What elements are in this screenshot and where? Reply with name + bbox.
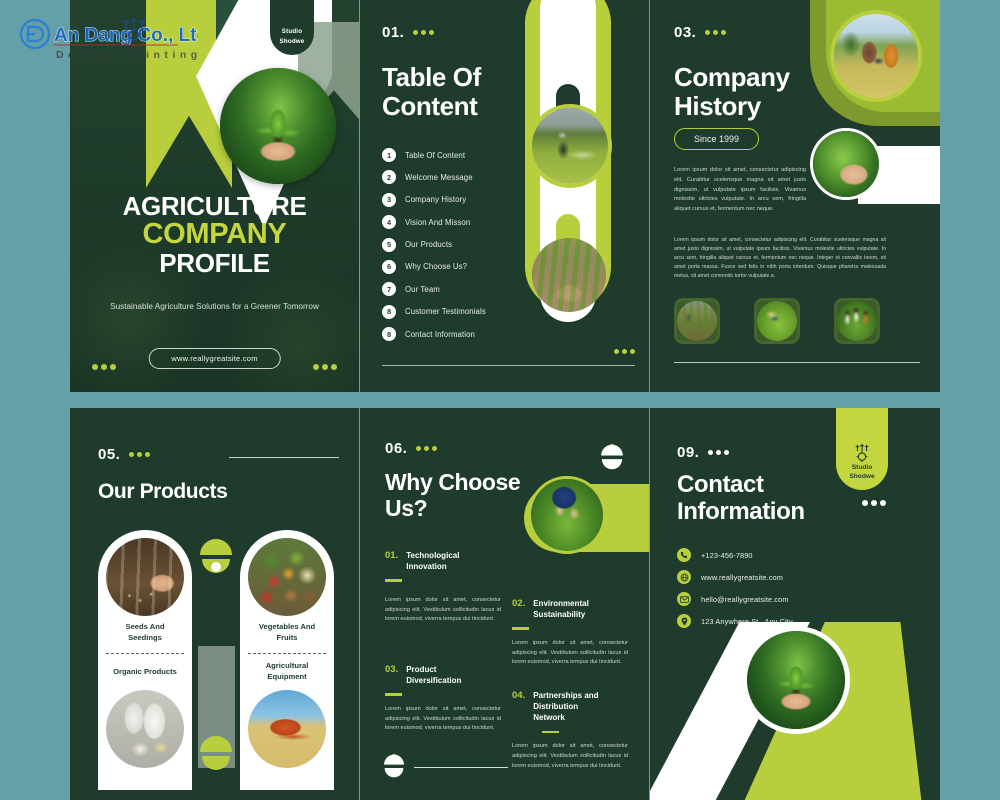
history-thumbnail[interactable] [834, 298, 880, 344]
toc-title-line1: Table Of [382, 63, 532, 92]
product-label-vegetables: Vegetables And Fruits [240, 621, 334, 643]
cover-hero-photo [220, 68, 336, 184]
why-block-1-title-line2: Innovation [406, 562, 446, 571]
toc-item-label: Contact Information [405, 330, 475, 339]
tea-picking-photo [531, 479, 603, 551]
why-block-2-number: 02. [512, 598, 525, 609]
cover-title-block: AGRICULTURE COMPANY PROFILE [70, 193, 359, 277]
contact-phone-text: +123-456-7890 [701, 551, 753, 560]
why-block-2-title-line1: Environmental [533, 599, 589, 608]
why-block-1-rule [385, 579, 402, 581]
toc-item-number: 2 [382, 170, 396, 184]
history-paragraph-1: Lorem ipsum dolor sit amet, consectetur … [674, 166, 806, 215]
leaf-knob-topright-icon [599, 444, 625, 470]
cover-title-line1: AGRICULTURE [70, 193, 359, 219]
globe-icon [677, 570, 691, 584]
products-number: 05. [98, 446, 120, 463]
why-block-3-body: Lorem ipsum dolor sit amet, consectetur … [385, 705, 501, 734]
product-photo-equipment [248, 690, 326, 768]
contact-tab-line2: Shodwe [849, 472, 874, 482]
toc-dots-bottom-icon [614, 349, 635, 354]
toc-item-label: Why Choose Us? [405, 262, 467, 271]
cover-dots-left [92, 364, 116, 370]
history-photo-couple [830, 10, 922, 102]
why-block-4-title-line1: Partnerships and [533, 691, 598, 700]
phone-icon [677, 548, 691, 562]
toc-item-label: Our Products [405, 240, 452, 249]
why-block-3-number: 03. [385, 664, 398, 675]
why-block-3: 03. Product Diversification Lorem ipsum … [385, 664, 501, 734]
why-dots-icon [416, 446, 437, 451]
history-number-row: 03. [674, 24, 790, 41]
why-bottom-rule [414, 767, 508, 768]
cover-title-line2: COMPANY [70, 219, 359, 250]
why-block-2-header: 02. Environmental Sustainability [512, 598, 628, 620]
toc-item-label: Table Of Content [405, 151, 465, 160]
why-block-4-title-line3: Network [533, 713, 565, 722]
cover-title-line3: PROFILE [70, 250, 359, 277]
product-photo-organic [106, 690, 184, 768]
toc-item-label: Company History [405, 195, 466, 204]
contact-tab-line1: Studio [852, 463, 873, 473]
seeds-in-hands-photo [532, 238, 606, 312]
why-number: 06. [385, 440, 407, 457]
page-title: Our Products [98, 480, 227, 504]
product-label-seeds-line2: Seedings [128, 633, 162, 642]
leaf-knob-bottom-icon [198, 736, 234, 772]
why-photo [528, 476, 606, 554]
why-number-row: 06. [385, 440, 437, 457]
toc-title: Table Of Content [382, 63, 532, 121]
products-top-rule [229, 457, 339, 458]
why-block-4-title-line2: Distribution [533, 702, 578, 711]
contact-title-line2: Information [677, 499, 867, 526]
why-block-2-title: Environmental Sustainability [533, 598, 589, 620]
product-label-seeds: Seeds And Seedings [98, 621, 192, 643]
product-label-organic: Organic Products [98, 666, 192, 677]
contact-website-text: www.reallygreatsite.com [701, 573, 783, 582]
hand-holding-sprout-photo [813, 131, 879, 197]
toc-item-number: 8 [382, 305, 396, 319]
why-block-1-title-line1: Technological [406, 551, 459, 560]
toc-item-label: Vision And Misson [405, 218, 470, 227]
products-number-row: 05. [98, 446, 150, 463]
why-block-1: 01. Technological Innovation Lorem ipsum… [385, 550, 501, 625]
cover-studio-badge-line2: Shodwe [280, 38, 305, 45]
why-block-4-rule [542, 731, 559, 733]
cover-dots-right [313, 364, 337, 370]
watermark-logo: An Dang Co., Ltd Design-Printing [18, 14, 198, 64]
history-dots-icon [705, 30, 726, 35]
toc-item-number: 4 [382, 215, 396, 229]
why-block-2-title-line2: Sustainability [533, 610, 585, 619]
page-why-choose-us: 06. Why Choose Us? 01. Technological Inn… [360, 408, 649, 800]
why-block-3-rule [385, 693, 402, 695]
toc-number: 01. [382, 24, 404, 41]
contact-number-row: 09. [677, 444, 729, 461]
leaf-knob-bottomleft-icon [382, 754, 406, 778]
toc-dots-icon [413, 30, 434, 35]
group-in-field-photo [837, 301, 877, 341]
history-title-line2: History [674, 92, 790, 121]
toc-item-number: 6 [382, 260, 396, 274]
farmer-spraying-photo [532, 108, 608, 184]
why-block-1-number: 01. [385, 550, 398, 561]
why-block-4-number: 04. [512, 690, 525, 701]
why-block-3-title: Product Diversification [406, 664, 461, 686]
contact-row-email[interactable]: hello@reallygreatsite.com [677, 592, 793, 606]
contact-hero-photo [742, 626, 850, 734]
why-block-2: 02. Environmental Sustainability Lorem i… [512, 598, 628, 668]
why-block-1-header: 01. Technological Innovation [385, 550, 501, 572]
why-block-4-title: Partnerships and Distribution Network [533, 690, 598, 724]
products-dots-icon [129, 452, 150, 457]
product-label-organic-line1: Organic Products [113, 667, 177, 676]
why-block-4: 04. Partnerships and Distribution Networ… [512, 690, 628, 771]
cover-studio-badge: StudioShodwe [270, 0, 314, 55]
page-table-of-content: 01. Table Of Content 1Table Of Content 2… [360, 0, 649, 392]
contact-studio-tab: Studio Shodwe [836, 408, 888, 490]
location-pin-icon [677, 614, 691, 628]
history-since-badge: Since 1999 [674, 128, 759, 150]
history-title-line1: Company [674, 63, 790, 92]
field-worker-photo [677, 301, 717, 341]
toc-bottom-rule [382, 365, 635, 366]
page-title: Contact Information [677, 472, 867, 526]
harvester-photo [248, 690, 326, 768]
page-our-products: 05. Our Products Seeds And Seedings Vege… [70, 408, 359, 800]
toc-item-label: Welcome Message [405, 173, 473, 182]
why-block-2-rule [512, 627, 529, 629]
mail-icon [677, 592, 691, 606]
why-block-4-header: 04. Partnerships and Distribution Networ… [512, 690, 628, 724]
toc-title-line2: Content [382, 92, 532, 121]
organic-dairy-photo [106, 690, 184, 768]
history-title: Company History [674, 63, 790, 121]
cover-website-pill[interactable]: www.reallygreatsite.com [148, 348, 280, 369]
history-header: 03. Company History [674, 24, 790, 121]
product-label-vegetables-line1: Vegetables And [259, 622, 315, 631]
why-title-line1: Why Choose [385, 470, 555, 496]
seedling-in-hand-photo [220, 68, 336, 184]
toc-item-number: 8 [382, 327, 396, 341]
contact-number: 09. [677, 444, 699, 461]
contact-email-text: hello@reallygreatsite.com [701, 595, 789, 604]
history-bottom-rule [674, 362, 920, 363]
why-block-1-body: Lorem ipsum dolor sit amet, consectetur … [385, 596, 501, 625]
why-block-3-title-line2: Diversification [406, 676, 461, 685]
product-label-equipment: Agricultural Equipment [240, 660, 334, 682]
wheat-gear-logo-icon [851, 443, 873, 463]
cover-studio-badge-line1: Studio [282, 28, 302, 35]
vegetables-and-fruits-photo [248, 538, 326, 616]
contact-dots-middle-icon [862, 500, 886, 506]
toc-photo-seeds [532, 238, 606, 312]
toc-number-row: 01. [382, 24, 532, 41]
why-block-3-header: 03. Product Diversification [385, 664, 501, 686]
toc-header: 01. Table Of Content [382, 24, 532, 121]
toc-photo-farmer [528, 104, 612, 188]
toc-item-number: 1 [382, 148, 396, 162]
products-divider-right [248, 653, 326, 654]
products-divider-left [106, 653, 184, 654]
contact-row-phone[interactable]: +123-456-7890 [677, 548, 793, 562]
why-block-3-title-line1: Product [406, 665, 436, 674]
toc-item-number: 7 [382, 282, 396, 296]
product-photo-seeds [106, 538, 184, 616]
page-company-history: 03. Company History Since 1999 Lorem ips… [650, 0, 940, 392]
why-block-4-body: Lorem ipsum dolor sit amet, consectetur … [512, 742, 628, 771]
lettuce-harvest-photo [757, 301, 797, 341]
product-photo-vegetables [248, 538, 326, 616]
why-block-2-body: Lorem ipsum dolor sit amet, consectetur … [512, 639, 628, 668]
leaf-knob-top-icon [198, 537, 234, 573]
history-photo-sprout [810, 128, 882, 200]
history-paragraph-2: Lorem ipsum dolor sit amet, consectetur … [674, 236, 886, 281]
product-label-seeds-line1: Seeds And [126, 622, 165, 631]
toc-item-number: 5 [382, 238, 396, 252]
contact-dots-icon [708, 450, 729, 455]
cover-tagline: Sustainable Agriculture Solutions for a … [104, 300, 325, 314]
contact-row-website[interactable]: www.reallygreatsite.com [677, 570, 793, 584]
couple-with-laptop-photo [834, 14, 918, 98]
seeding-soil-photo [106, 538, 184, 616]
page-contact-information: Studio Shodwe 09. Contact Information +1… [650, 408, 940, 800]
toc-item-label: Our Team [405, 285, 440, 294]
toc-item-number: 3 [382, 193, 396, 207]
why-block-1-title: Technological Innovation [406, 550, 459, 572]
product-label-equipment-line1: Agricultural [266, 661, 309, 670]
product-label-vegetables-line2: Fruits [276, 633, 297, 642]
history-thumbnail[interactable] [754, 298, 800, 344]
toc-item-label: Customer Testimonials [405, 307, 486, 316]
toc-image-rail [518, 0, 649, 392]
watermark-tagline-text: Design-Printing [56, 49, 198, 61]
history-thumbnail[interactable] [674, 298, 720, 344]
history-number: 03. [674, 24, 696, 41]
history-thumbnail-row [674, 298, 880, 344]
seedling-in-hand-photo [747, 631, 845, 729]
product-label-equipment-line2: Equipment [267, 672, 306, 681]
brochure-page-grid: StudioShodwe AGRICULTURE COMPANY PROFILE… [70, 0, 940, 800]
